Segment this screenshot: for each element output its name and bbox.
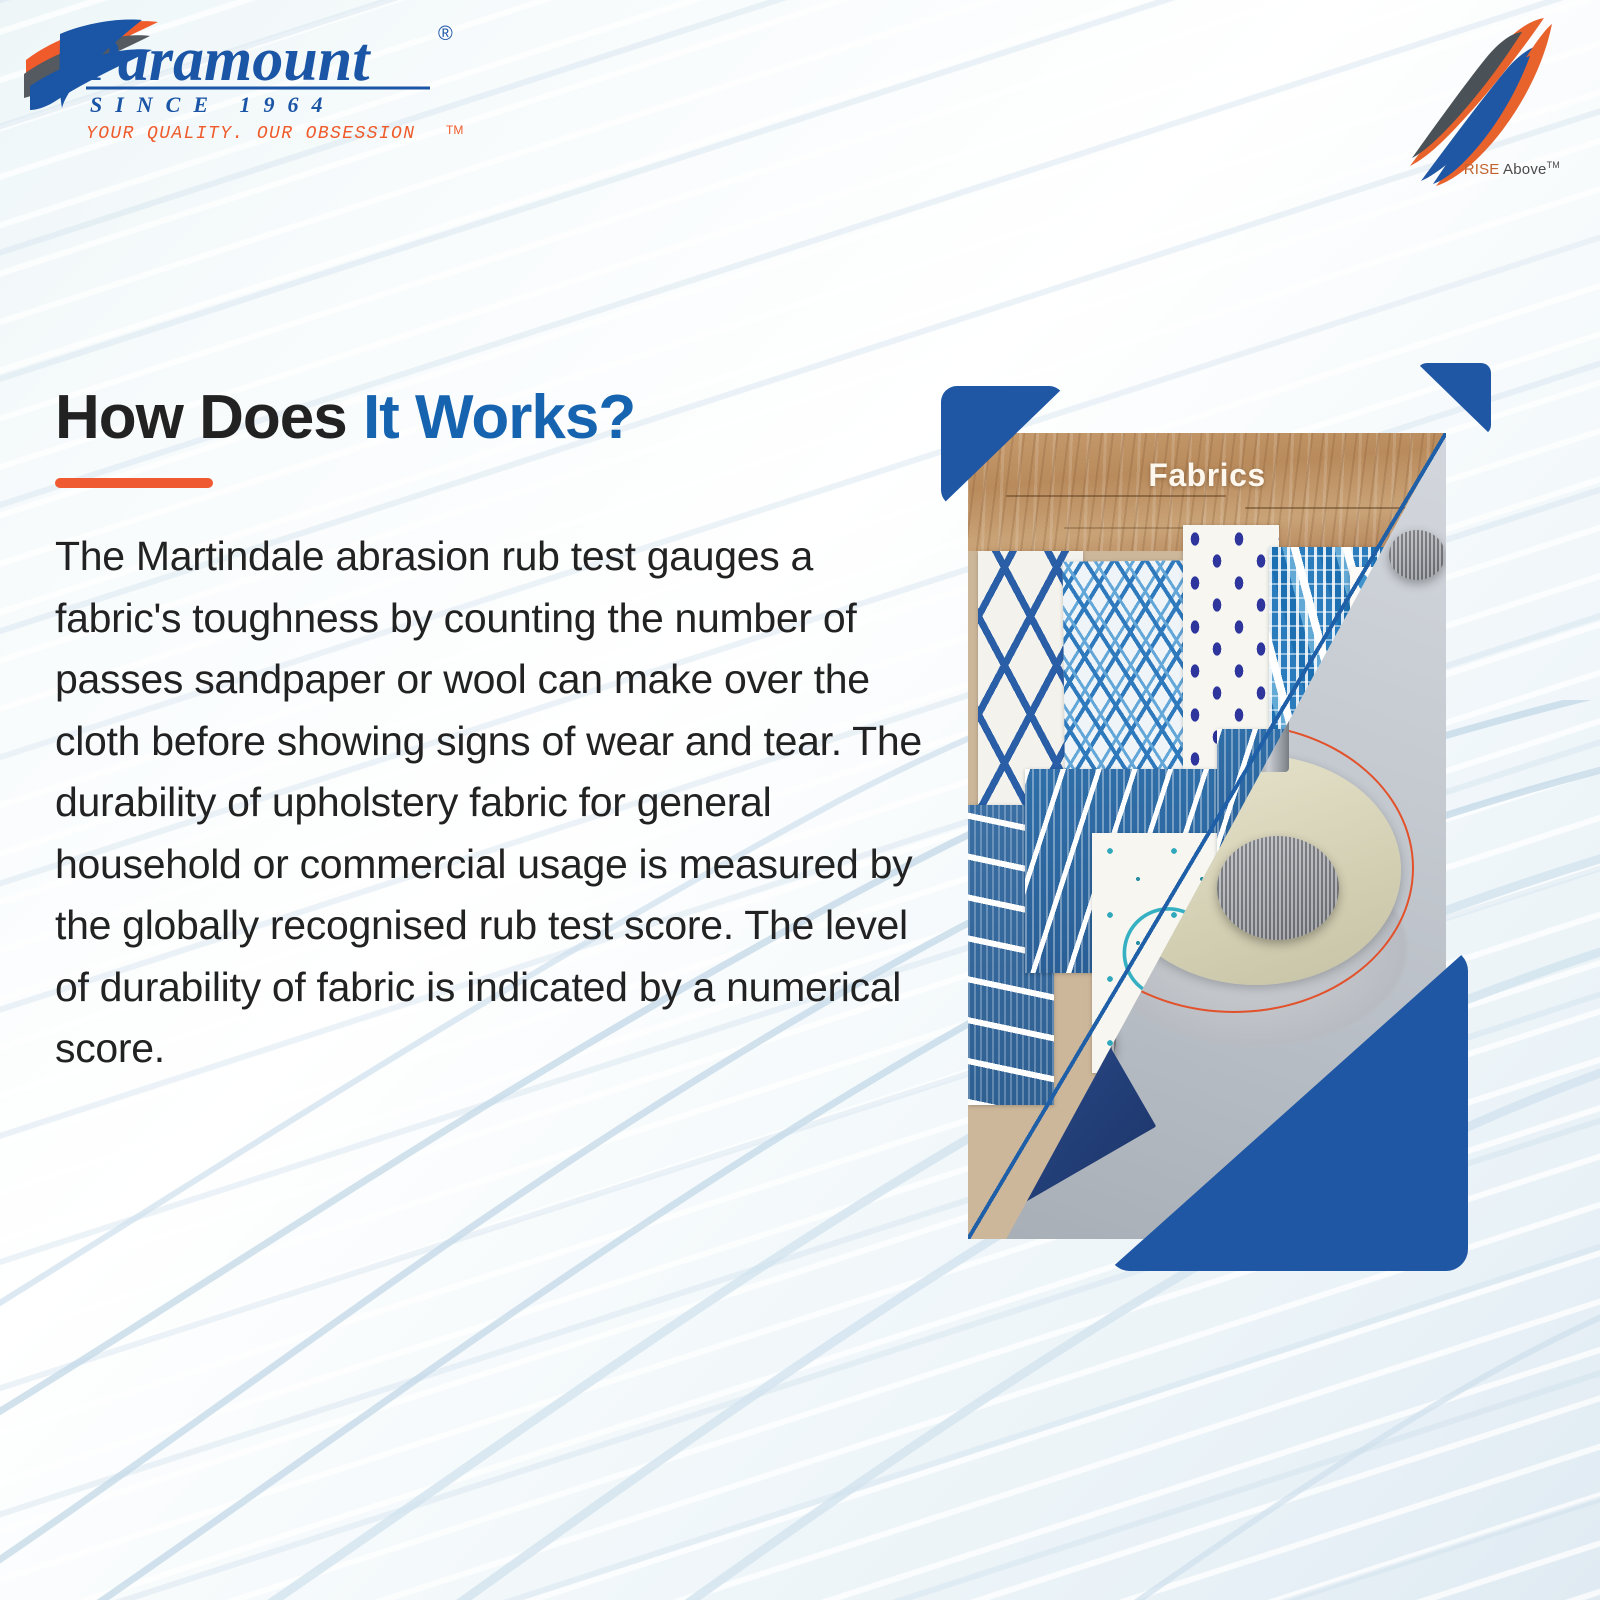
photo-image: Fabrics [968, 433, 1446, 1239]
above-word: Above [1500, 161, 1547, 178]
paramount-logo: Paramount ® SINCE 1964 YOUR QUALITY. OUR… [18, 14, 488, 146]
photo-card: Fabrics [968, 433, 1446, 1239]
registered-mark-icon: ® [438, 23, 453, 45]
logo-tagline-tm: TM [446, 123, 463, 137]
rise-tm: TM [1547, 160, 1560, 170]
page-title-accent: It Works? [363, 383, 635, 452]
fabrics-label: Fabrics [968, 457, 1446, 494]
body-paragraph: The Martindale abrasion rub test gauges … [55, 526, 930, 1080]
page-title-plain: How Does [55, 383, 363, 452]
rise-word: RISE [1464, 161, 1500, 178]
page-title: How Does It Works? [55, 385, 935, 450]
diagonal-divider-icon [968, 433, 1446, 1239]
rise-above-text: RISE AboveTM [1464, 160, 1560, 178]
logo-since: SINCE 1964 [90, 92, 336, 117]
logo-wordmark: Paramount [79, 26, 371, 94]
title-accent-rule [55, 478, 213, 488]
main-content: How Does It Works? The Martindale abrasi… [55, 385, 935, 1080]
logo-tagline: YOUR QUALITY. OUR OBSESSION [86, 124, 415, 144]
